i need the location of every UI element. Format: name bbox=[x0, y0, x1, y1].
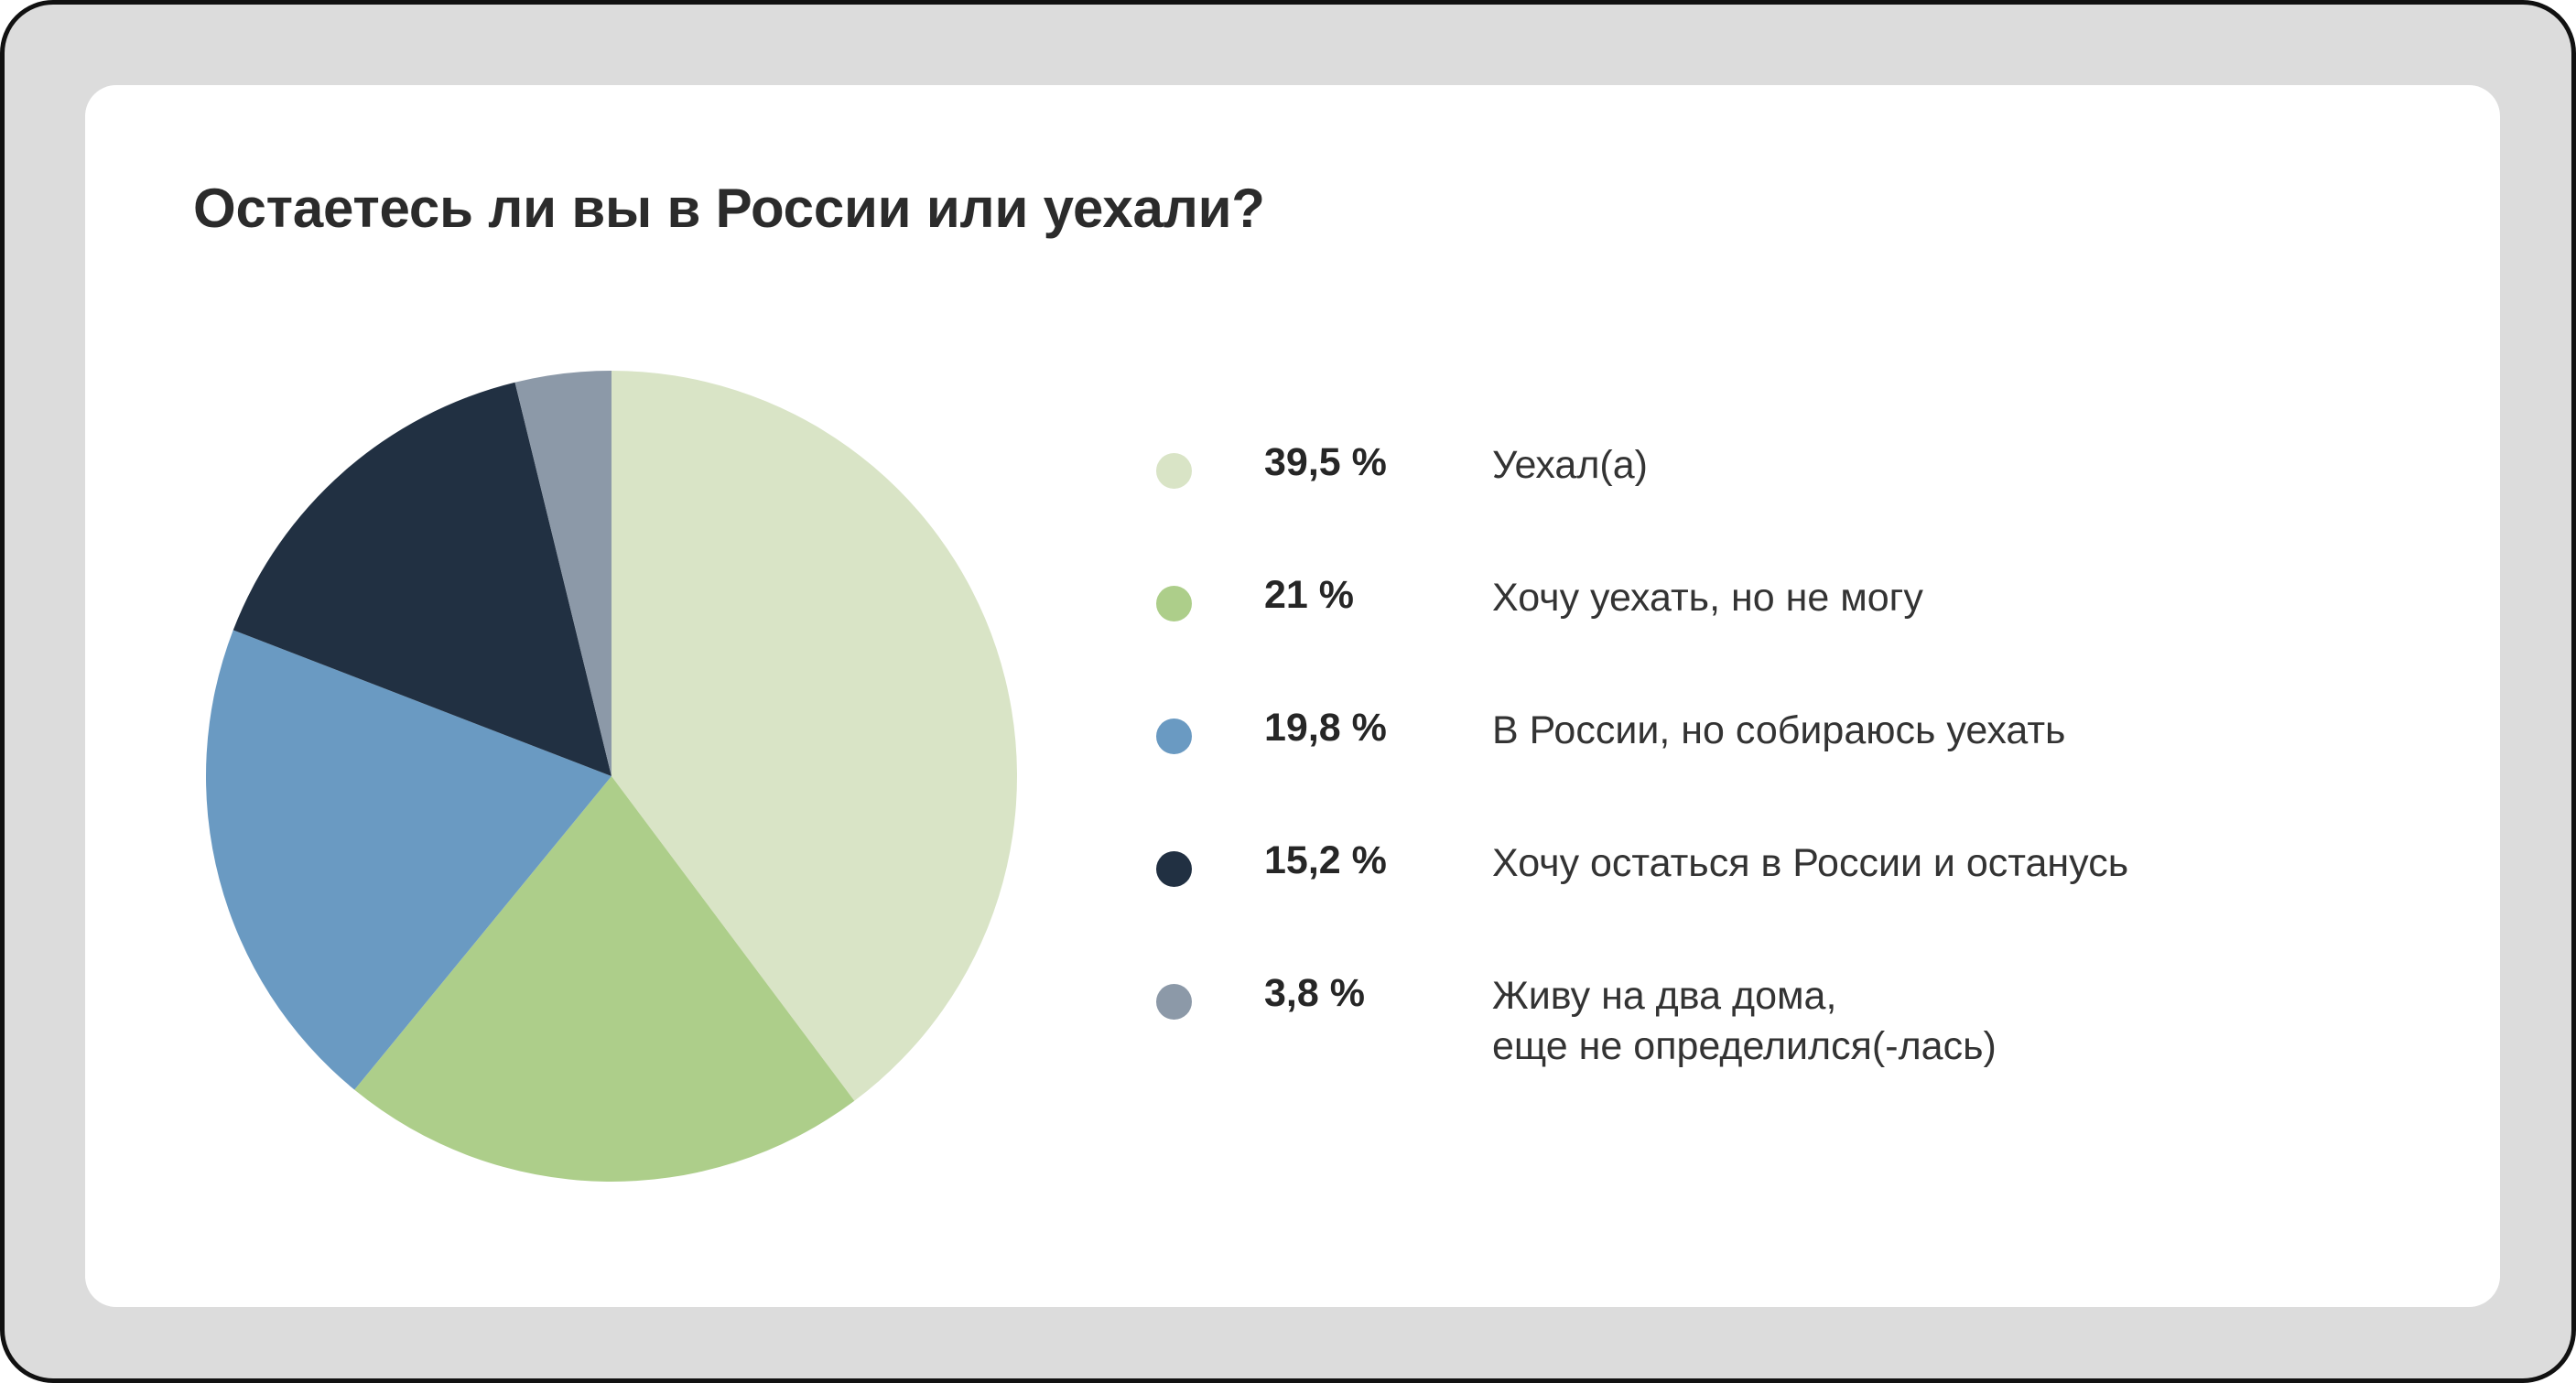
legend-color-swatch-icon bbox=[1156, 984, 1192, 1020]
legend-color-swatch-icon bbox=[1156, 586, 1192, 621]
legend-item-label: Хочу остаться в России и останусь bbox=[1492, 838, 2128, 889]
chart-legend: 39,5 %Уехал(а)21 %Хочу уехать, но не мог… bbox=[1156, 440, 2438, 1104]
legend-item[interactable]: 39,5 %Уехал(а) bbox=[1156, 440, 2438, 573]
chart-card: Остаетесь ли вы в России или уехали? 39,… bbox=[85, 85, 2500, 1307]
legend-percent-value: 19,8 % bbox=[1264, 706, 1387, 751]
legend-color-swatch-icon bbox=[1156, 719, 1192, 754]
legend-item-label: Живу на два дома, еще не определился(-ла… bbox=[1492, 971, 1997, 1071]
legend-item-label: Хочу уехать, но не могу bbox=[1492, 573, 1923, 623]
legend-item[interactable]: 21 %Хочу уехать, но не могу bbox=[1156, 573, 2438, 706]
legend-item[interactable]: 15,2 %Хочу остаться в России и останусь bbox=[1156, 838, 2438, 971]
legend-color-swatch-icon bbox=[1156, 851, 1192, 887]
legend-color-swatch-icon bbox=[1156, 453, 1192, 489]
legend-item-label: Уехал(а) bbox=[1492, 440, 1648, 491]
legend-percent-value: 21 % bbox=[1264, 573, 1354, 618]
page-title: Остаетесь ли вы в России или уехали? bbox=[193, 177, 1265, 240]
legend-item[interactable]: 3,8 %Живу на два дома, еще не определилс… bbox=[1156, 971, 2438, 1104]
pie-chart bbox=[204, 369, 1019, 1183]
pie-slice-group bbox=[206, 371, 1017, 1182]
legend-item[interactable]: 19,8 %В России, но собираюсь уехать bbox=[1156, 706, 2438, 838]
legend-item-label: В России, но собираюсь уехать bbox=[1492, 706, 2065, 756]
legend-percent-value: 3,8 % bbox=[1264, 971, 1365, 1016]
legend-percent-value: 15,2 % bbox=[1264, 838, 1387, 883]
legend-percent-value: 39,5 % bbox=[1264, 440, 1387, 485]
screenshot-frame: Остаетесь ли вы в России или уехали? 39,… bbox=[0, 0, 2576, 1383]
pie-chart-svg bbox=[204, 369, 1019, 1183]
